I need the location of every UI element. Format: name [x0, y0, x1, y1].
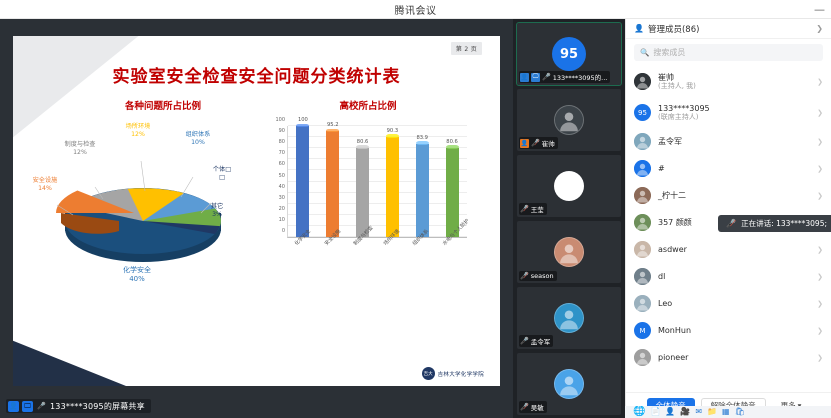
avatar	[634, 268, 651, 285]
thumbnail-name: 133****3095的...	[553, 72, 608, 82]
participant-search[interactable]: 🔍	[634, 44, 823, 61]
avatar	[554, 237, 584, 267]
thumbnail-name: 孟令军	[531, 336, 551, 346]
word-icon[interactable]: 📄	[650, 408, 660, 416]
edge-icon[interactable]: 🌐	[633, 407, 645, 417]
participant-name: dl	[658, 272, 665, 281]
participant-name: 133****3095	[658, 104, 710, 113]
participant-row[interactable]: 95133****3095(联席主持人)❯	[626, 97, 831, 128]
pie-label-huaxue-anquan: 化学安全 40%	[106, 266, 168, 284]
participant-role: (主持人, 我)	[658, 82, 696, 90]
university-seal-icon: 吉大	[422, 367, 435, 380]
bar-chart-plot: 0 10 20 30 40 50 60 70 80 90 100 10095.2…	[287, 126, 467, 238]
participant-more-icon[interactable]: ❯	[817, 138, 823, 146]
participant-info: #	[658, 164, 665, 173]
bar-cap	[326, 129, 339, 133]
avatar	[634, 73, 651, 90]
bar-series: 10095.280.690.383.980.6	[288, 126, 467, 237]
bar-value-label: 90.3	[387, 128, 399, 134]
bar-body	[416, 144, 429, 237]
avatar	[634, 160, 651, 177]
mic-icon: 🎤	[520, 337, 529, 345]
participant-name: pioneer	[658, 353, 688, 362]
participant-row[interactable]: asdwer❯	[626, 236, 831, 263]
participant-info: 133****3095(联席主持人)	[658, 104, 710, 121]
video-thumbnail[interactable]: 95👤🖵🎤133****3095的...	[517, 23, 621, 85]
pie-label-zhidu: 制度与检查 12%	[54, 141, 106, 157]
thumbnail-name-row: 🎤̸season	[519, 271, 557, 281]
bar-body	[386, 137, 399, 237]
slide-page-badge: 第 2 页	[451, 42, 482, 55]
people-icon: 👤	[634, 24, 644, 33]
mic-muted-icon: 🎤̸	[531, 139, 540, 147]
avatar	[554, 369, 584, 399]
mic-muted-icon: 🎤̸	[726, 219, 736, 228]
bar-cap	[356, 145, 369, 149]
mic-icon: 🎤	[542, 73, 551, 81]
participant-row[interactable]: MMonHun❯	[626, 317, 831, 344]
thumbnail-name-row: 👤🖵🎤133****3095的...	[519, 71, 610, 83]
bar-3: 90.3	[386, 137, 399, 237]
participant-more-icon[interactable]: ❯	[817, 300, 823, 308]
video-thumbnail[interactable]: 🎤̸王莹	[517, 155, 621, 217]
avatar: 95	[552, 37, 586, 71]
slide-footer-logo-text: 吉林大学化学学院	[438, 370, 484, 378]
bar-chart-xlabels: 化学安全安全设施制度与检查场所环境组织体系水电与个人防护	[287, 240, 467, 290]
pie-chart-subtitle: 各种问题所占比例	[68, 98, 258, 112]
participant-info: MonHun	[658, 326, 691, 335]
avatar	[554, 303, 584, 333]
thumbnail-name-row: 👤🎤̸崔帅	[519, 137, 558, 149]
thumbnail-name-row: 🎤̸王莹	[519, 203, 547, 215]
avatar: 95	[634, 104, 651, 121]
participants-panel-title: 管理成员(86)	[648, 23, 699, 35]
speaking-tooltip: 🎤̸正在讲话: 133****3095;	[718, 215, 831, 232]
participant-row[interactable]: Leo❯	[626, 290, 831, 317]
bar-body	[356, 148, 369, 237]
person-icon: 👤	[8, 401, 19, 412]
thumbnail-name-row: 🎤̸吴敏	[519, 401, 547, 413]
video-thumbnail[interactable]: 🎤孟令军	[517, 287, 621, 349]
thumbnail-name: 吴敏	[531, 402, 544, 412]
participant-row[interactable]: dl❯	[626, 263, 831, 290]
bar-cap	[416, 141, 429, 145]
avatar	[634, 295, 651, 312]
participant-name: #	[658, 164, 665, 173]
mic-muted-icon: 🎤̸	[520, 403, 529, 411]
bar-ytick-30: 30	[279, 195, 285, 201]
participant-info: dl	[658, 272, 665, 281]
tencent-meeting-window: 腾讯会议 — 第 2 页 实验室安全检查安全问题分类统计表 各种问题所占比例 高…	[0, 0, 831, 418]
mic-icon: 🎤	[36, 401, 47, 412]
video-thumbnail-strip[interactable]: 95👤🖵🎤133****3095的...👤🎤̸崔帅🎤̸王莹🎤̸season🎤孟令…	[513, 19, 625, 418]
thumbnail-name: season	[531, 272, 554, 280]
participant-name: _柠十二	[658, 191, 686, 200]
slide-title: 实验室安全检查安全问题分类统计表	[13, 62, 500, 87]
pie-label-zuzhi: 组织体系 10%	[173, 131, 223, 147]
avatar	[554, 105, 584, 135]
video-thumbnail[interactable]: 🎤̸吴敏	[517, 353, 621, 415]
video-thumbnail[interactable]: 🎤̸season	[517, 221, 621, 283]
person-icon[interactable]: 👤	[665, 408, 675, 416]
bar-body	[326, 131, 339, 237]
participant-name: Leo	[658, 299, 672, 308]
screen-icon: 🖵	[22, 401, 33, 412]
store-icon[interactable]: 🛍	[735, 408, 745, 416]
avatar	[634, 241, 651, 258]
folder-icon[interactable]: 📁	[707, 408, 717, 416]
chevron-right-icon[interactable]: ❯	[816, 24, 823, 33]
bar-chart: 0 10 20 30 40 50 60 70 80 90 100 10095.2…	[261, 118, 476, 303]
screen-icon: 🖵	[531, 73, 540, 82]
avatar	[634, 133, 651, 150]
search-icon: 🔍	[640, 48, 649, 57]
bar-ytick-70: 70	[279, 150, 285, 156]
bar-ytick-80: 80	[279, 139, 285, 145]
mic-muted-icon: 🎤̸	[520, 272, 529, 280]
mail-icon[interactable]: ✉	[695, 408, 702, 416]
avatar	[554, 171, 584, 201]
bar-1: 95.2	[326, 131, 339, 237]
bar-cap	[446, 145, 459, 149]
avatar	[634, 187, 651, 204]
bar-ytick-60: 60	[279, 161, 285, 167]
participant-more-icon[interactable]: ❯	[817, 78, 823, 86]
participant-row[interactable]: 357 颜颜❯🎤̸正在讲话: 133****3095;	[626, 209, 831, 236]
participant-info: 孟令军	[658, 137, 682, 146]
bar-chart-subtitle: 高校所占比例	[278, 98, 458, 112]
bar-5: 80.6	[446, 148, 459, 237]
participants-panel: 👤 管理成员(86) ❯ 🔍 崔帅(主持人, 我)❯95133****3095(…	[625, 19, 831, 418]
pie-label-geti: 个体□ □	[199, 166, 245, 182]
participant-row[interactable]: 孟令军❯	[626, 128, 831, 155]
speaking-tooltip-text: 正在讲话: 133****3095;	[741, 218, 827, 229]
bar-value-label: 95.2	[327, 122, 339, 128]
participant-row[interactable]: _柠十二❯	[626, 182, 831, 209]
video-thumbnail[interactable]: 👤🎤̸崔帅	[517, 89, 621, 151]
participant-info: pioneer	[658, 353, 688, 362]
host-icon: 👤	[520, 73, 529, 82]
os-taskbar[interactable]: 🌐 📄 👤 🎥 ✉ 📁 ▦ 🛍	[625, 406, 831, 418]
bar-cap	[386, 134, 399, 138]
participant-more-icon[interactable]: ❯	[817, 109, 823, 117]
participant-role: (联席主持人)	[658, 113, 710, 121]
thumbnail-name-row: 🎤孟令军	[519, 335, 553, 347]
bar-value-label: 80.6	[446, 139, 458, 145]
shared-screen-stage[interactable]: 第 2 页 实验室安全检查安全问题分类统计表 各种问题所占比例 高校所占比例	[0, 19, 513, 418]
participant-more-icon[interactable]: ❯	[817, 165, 823, 173]
participant-name: MonHun	[658, 326, 691, 335]
window-controls: —	[814, 0, 825, 19]
video-icon[interactable]: 🎥	[680, 408, 690, 416]
bar-ytick-100: 100	[275, 117, 285, 123]
avatar: M	[634, 322, 651, 339]
participant-info: 357 颜颜	[658, 218, 692, 227]
participants-panel-header: 👤 管理成员(86) ❯	[626, 19, 831, 39]
participant-name: 357 颜颜	[658, 218, 692, 227]
pie-label-anquan-sheshi: 安全设施 14%	[21, 177, 69, 193]
participant-row[interactable]: pioneer❯	[626, 344, 831, 371]
participant-more-icon[interactable]: ❯	[817, 246, 823, 254]
search-input[interactable]	[653, 48, 817, 57]
bar-value-label: 100	[298, 117, 308, 123]
window-titlebar: 腾讯会议 —	[0, 0, 831, 19]
participants-list[interactable]: 崔帅(主持人, 我)❯95133****3095(联席主持人)❯孟令军❯#❯_柠…	[626, 64, 831, 392]
bar-cap	[296, 124, 309, 128]
participant-row[interactable]: #❯	[626, 155, 831, 182]
bar-ytick-90: 90	[279, 128, 285, 134]
bar-ytick-50: 50	[279, 173, 285, 179]
bar-body	[296, 126, 309, 237]
mic-muted-icon: 🎤̸	[520, 205, 529, 213]
participant-row[interactable]: 崔帅(主持人, 我)❯	[626, 66, 831, 97]
minimize-button[interactable]: —	[814, 4, 825, 15]
bar-value-label: 83.9	[416, 135, 428, 141]
participant-name: 崔帅	[658, 73, 696, 82]
participant-more-icon[interactable]: ❯	[817, 327, 823, 335]
bar-value-label: 80.6	[357, 139, 369, 145]
participant-info: 崔帅(主持人, 我)	[658, 73, 696, 90]
bar-ytick-20: 20	[279, 206, 285, 212]
bar-ytick-10: 10	[279, 217, 285, 223]
share-status-text: 133****3095的屏幕共享	[50, 401, 145, 412]
window-title: 腾讯会议	[395, 2, 437, 17]
slide-footer-logo: 吉大 吉林大学化学学院	[422, 367, 484, 380]
bar-body	[446, 148, 459, 237]
bar-0: 100	[296, 126, 309, 237]
presentation-slide: 第 2 页 实验室安全检查安全问题分类统计表 各种问题所占比例 高校所占比例	[13, 36, 500, 386]
participant-more-icon[interactable]: ❯	[817, 273, 823, 281]
participant-info: asdwer	[658, 245, 687, 254]
pie-chart: 制度与检查 12% 场所环境 12% 组织体系 10% 个体□ □ 其它 3	[33, 121, 258, 306]
bar-ytick-40: 40	[279, 184, 285, 190]
avatar-initials: 95	[560, 47, 578, 62]
participant-name: 孟令军	[658, 137, 682, 146]
slide-decor-bottom-left	[13, 308, 131, 386]
participant-info: _柠十二	[658, 191, 686, 200]
avatar	[634, 349, 651, 366]
participant-more-icon[interactable]: ❯	[817, 354, 823, 362]
participant-info: Leo	[658, 299, 672, 308]
pie-label-changsuo: 场所环境 12%	[113, 123, 163, 139]
avatar	[634, 214, 651, 231]
cohost-icon: 👤	[520, 139, 529, 148]
thumbnail-name: 崔帅	[542, 138, 555, 148]
apps-icon[interactable]: ▦	[722, 408, 730, 416]
participant-more-icon[interactable]: ❯	[817, 192, 823, 200]
bar-2: 80.6	[356, 148, 369, 237]
thumbnail-name: 王莹	[531, 204, 544, 214]
bar-ytick-0: 0	[282, 228, 285, 234]
share-status-bar: 👤 🖵 🎤 133****3095的屏幕共享	[6, 399, 151, 413]
bar-4: 83.9	[416, 144, 429, 237]
participant-name: asdwer	[658, 245, 687, 254]
pie-label-qita: 其它 3%	[196, 203, 238, 219]
